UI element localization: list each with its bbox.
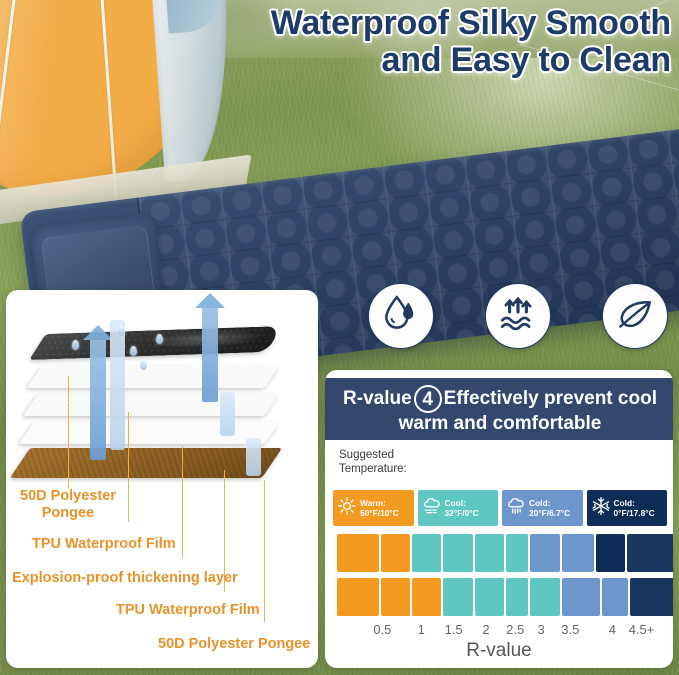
water-drop-icon (156, 334, 163, 344)
layer-base-polyester (10, 448, 282, 478)
layer-tpu-film-upper (27, 366, 280, 388)
rvalue-segment (337, 534, 379, 572)
rvalue-segment (562, 578, 601, 616)
chip-cold-20f-text: Cold: 20°F/6.7°C (529, 498, 570, 518)
layer-tpu-film-lower (19, 422, 280, 444)
callout-leader (68, 376, 69, 488)
rvalue-segment (443, 578, 472, 616)
water-drop-icon (130, 346, 137, 356)
badge-breathable (485, 283, 551, 349)
callout-leader (264, 480, 265, 622)
chip-cool: Cool: 32°F/0°C (418, 490, 499, 526)
rvalue-segment (627, 534, 673, 572)
rvalue-tick-label: 4 (609, 622, 616, 637)
rvalue-number-badge: 4 (414, 385, 442, 413)
airflow-arrow-icon (220, 392, 235, 436)
water-drop-icon (118, 326, 125, 336)
badge-eco (602, 283, 668, 349)
water-droplet-icon (380, 293, 422, 340)
rvalue-tick-label: 2 (482, 622, 489, 637)
rvalue-tick-label: 1 (418, 622, 425, 637)
rvalue-tick-label: 3 (537, 622, 544, 637)
rvalue-segment (530, 578, 559, 616)
chip-cool-text: Cool: 32°F/0°C (445, 498, 479, 518)
chip-cold-0f: Cold: 0°F/17.8°C (587, 490, 668, 526)
airflow-arrow-icon (246, 438, 261, 476)
callout-50d-polyester-pongee-bottom: 50D Polyester Pongee (158, 636, 310, 652)
layers-panel: 50D Polyester Pongee TPU Waterproof Film… (6, 290, 318, 668)
rvalue-panel: R-value 4 Effectively prevent cool warm … (325, 370, 673, 668)
chip-cold-0f-text: Cold: 0°F/17.8°C (614, 498, 655, 518)
snowflake-icon (591, 496, 611, 521)
rvalue-segment (475, 534, 504, 572)
callout-leader (128, 412, 129, 522)
rvalue-segment (562, 534, 594, 572)
rvalue-prefix: R-value (343, 388, 412, 409)
chip-warm-text: Warm: 50°F/10°C (360, 498, 399, 518)
rvalue-tick-label: 1.5 (445, 622, 463, 637)
rvalue-tick-label: 2.5 (506, 622, 524, 637)
headline-line-2: and Easy to Clean (211, 43, 671, 78)
layer-explosion-proof (23, 394, 280, 416)
rvalue-segment (443, 534, 472, 572)
exploded-layer-diagram (6, 296, 318, 502)
callout-tpu-waterproof-film-upper: TPU Waterproof Film (32, 536, 176, 552)
rvalue-axis-ticks: 0.511.522.533.544.5+ (337, 622, 661, 640)
water-drop-icon (72, 340, 79, 350)
rvalue-segment (596, 534, 625, 572)
rvalue-bar-row-top (337, 534, 661, 572)
cloud-wind-icon (422, 496, 442, 521)
rvalue-segment (530, 534, 559, 572)
rvalue-segment (337, 578, 379, 616)
callout-leader (182, 446, 183, 558)
temperature-chips: Warm: 50°F/10°C Cool: 32°F/0°C (333, 490, 667, 526)
rvalue-tick-label: 4.5+ (629, 622, 655, 637)
rvalue-chart (337, 534, 661, 616)
rvalue-segment (475, 578, 504, 616)
headline: Waterproof Silky Smooth and Easy to Clea… (211, 6, 671, 79)
sun-icon (337, 496, 357, 521)
water-drop-icon (140, 360, 147, 370)
rvalue-bar-row-bottom (337, 578, 661, 616)
rvalue-segment (506, 534, 529, 572)
rvalue-segment (630, 578, 673, 616)
rvalue-segment (412, 578, 441, 616)
rvalue-segment (381, 578, 410, 616)
layer-top-polyester (29, 326, 283, 360)
badge-waterproof (368, 283, 434, 349)
rvalue-segment (381, 534, 410, 572)
airflow-arrow-icon (110, 320, 125, 450)
cloud-rain-icon (506, 496, 526, 521)
rvalue-header: R-value 4 Effectively prevent cool warm … (325, 378, 673, 440)
airflow-arrow-icon (90, 338, 106, 460)
rvalue-axis-title: R-value (325, 640, 673, 662)
airflow-arrow-icon (202, 306, 218, 402)
callout-explosion-proof-layer: Explosion-proof thickening layer (12, 570, 238, 586)
callout-50d-polyester-pongee-top: 50D Polyester Pongee (20, 488, 116, 521)
suggested-temperature-label: Suggested Temperature: (339, 448, 407, 476)
rvalue-suffix: Effectively prevent cool (444, 388, 657, 409)
rvalue-segment (412, 534, 441, 572)
chip-warm: Warm: 50°F/10°C (333, 490, 414, 526)
callout-tpu-waterproof-film-lower: TPU Waterproof Film (116, 602, 260, 618)
chip-cold-20f: Cold: 20°F/6.7°C (502, 490, 583, 526)
leaf-icon (614, 293, 656, 340)
rvalue-tick-label: 3.5 (561, 622, 579, 637)
feature-badges (368, 280, 668, 352)
headline-line-1: Waterproof Silky Smooth (211, 6, 671, 41)
rvalue-segment (602, 578, 628, 616)
rvalue-header-line-1: R-value 4 Effectively prevent cool (337, 385, 663, 413)
breathable-waves-icon (497, 293, 539, 340)
rvalue-segment (506, 578, 529, 616)
rvalue-tick-label: 0.5 (373, 622, 391, 637)
rvalue-header-line-2: warm and comfortable (337, 413, 663, 434)
